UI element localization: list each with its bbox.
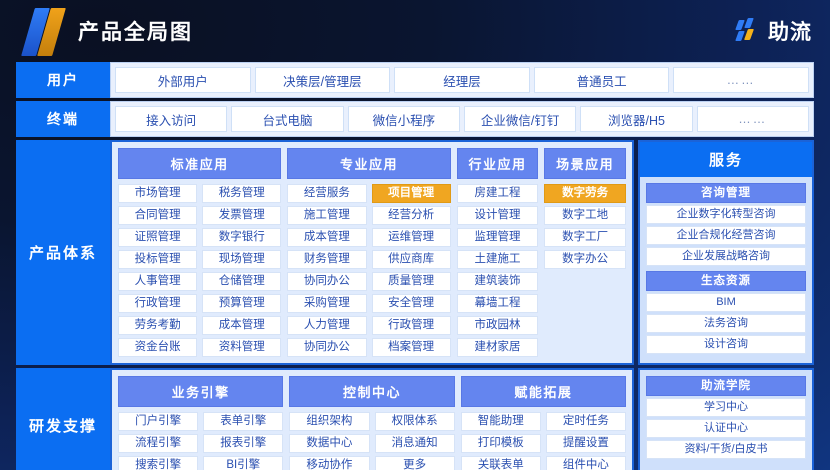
service-item[interactable]: 法务咨询 xyxy=(646,314,806,333)
app-item[interactable]: 房建工程 xyxy=(457,184,539,203)
service-panel: 服务 咨询管理企业数字化转型咨询企业合规化经营咨询企业发展战略咨询生态资源BIM… xyxy=(638,140,814,365)
app-item[interactable]: 建材家居 xyxy=(457,338,539,357)
app-item-highlighted[interactable]: 项目管理 xyxy=(372,184,451,203)
row-1: 终端接入访问台式电脑微信小程序企业微信/钉钉浏览器/H5…… xyxy=(16,101,814,137)
app-column: 数字劳务数字工地数字工厂数字办公 xyxy=(544,184,626,357)
app-item[interactable]: 市场管理 xyxy=(118,184,197,203)
app-item[interactable]: 经营服务 xyxy=(287,184,366,203)
app-item[interactable]: 运维管理 xyxy=(372,228,451,247)
app-item[interactable]: 采购管理 xyxy=(287,294,366,313)
service-item[interactable]: 设计咨询 xyxy=(646,335,806,354)
app-item[interactable]: 人力管理 xyxy=(287,316,366,335)
service-group: 生态资源BIM法务咨询设计咨询 xyxy=(646,271,806,354)
app-item[interactable]: 数字银行 xyxy=(202,228,281,247)
service-group: 助流学院学习中心认证中心资料/干货/白皮书 xyxy=(646,376,806,459)
app-item[interactable]: 资料管理 xyxy=(202,338,281,357)
app-item[interactable]: 数字办公 xyxy=(544,250,626,269)
service-panel-continued: 助流学院学习中心认证中心资料/干货/白皮书 xyxy=(638,368,814,470)
app-group-title: 标准应用 xyxy=(118,148,281,179)
app-item[interactable]: 质量管理 xyxy=(372,272,451,291)
service-item[interactable]: BIM xyxy=(646,293,806,312)
row-cell[interactable]: 台式电脑 xyxy=(231,106,343,132)
app-item[interactable]: 现场管理 xyxy=(202,250,281,269)
row-cell[interactable]: …… xyxy=(697,106,809,132)
app-item[interactable]: 安全管理 xyxy=(372,294,451,313)
app-item[interactable]: 建筑装饰 xyxy=(457,272,539,291)
service-group-title: 咨询管理 xyxy=(646,183,806,203)
service-item[interactable]: 企业数字化转型咨询 xyxy=(646,205,806,224)
app-item[interactable]: 劳务考勤 xyxy=(118,316,197,335)
app-item[interactable]: 土建施工 xyxy=(457,250,539,269)
rnd-item[interactable]: 移动协作 xyxy=(289,456,369,470)
app-column: 房建工程设计管理监理管理土建施工建筑装饰幕墙工程市政园林建材家居 xyxy=(457,184,539,357)
product-system-section: 产品体系 标准应用市场管理合同管理证照管理投标管理人事管理行政管理劳务考勤资金台… xyxy=(16,140,814,365)
service-group-title: 生态资源 xyxy=(646,271,806,291)
row-body-1: 接入访问台式电脑微信小程序企业微信/钉钉浏览器/H5…… xyxy=(110,101,814,137)
rnd-item[interactable]: 报表引擎 xyxy=(203,434,283,453)
rnd-group-title: 赋能拓展 xyxy=(461,376,626,407)
row-cell[interactable]: 外部用户 xyxy=(115,67,251,93)
rnd-item[interactable]: 搜索引擎 xyxy=(118,456,198,470)
service-item[interactable]: 学习中心 xyxy=(646,398,806,417)
service-item[interactable]: 企业发展战略咨询 xyxy=(646,247,806,266)
rnd-column: 智能助理打印模板关联表单 xyxy=(461,412,541,470)
app-item[interactable]: 人事管理 xyxy=(118,272,197,291)
app-item[interactable]: 行政管理 xyxy=(118,294,197,313)
row-0: 用户外部用户决策层/管理层经理层普通员工…… xyxy=(16,62,814,98)
rnd-item[interactable]: 关联表单 xyxy=(461,456,541,470)
application-groups: 标准应用市场管理合同管理证照管理投标管理人事管理行政管理劳务考勤资金台账税务管理… xyxy=(110,140,634,365)
app-item[interactable]: 税务管理 xyxy=(202,184,281,203)
app-item[interactable]: 协同办公 xyxy=(287,338,366,357)
app-item[interactable]: 市政园林 xyxy=(457,316,539,335)
rnd-group-0: 业务引擎门户引擎流程引擎搜索引擎表单引擎报表引擎BI引擎 xyxy=(118,376,283,470)
rnd-column: 组织架构数据中心移动协作 xyxy=(289,412,369,470)
app-item[interactable]: 经营分析 xyxy=(372,206,451,225)
row-cell[interactable]: 经理层 xyxy=(394,67,530,93)
page-header: 产品全局图 助流 xyxy=(0,0,830,62)
app-group-title: 专业应用 xyxy=(287,148,450,179)
app-item[interactable]: 监理管理 xyxy=(457,228,539,247)
app-item[interactable]: 行政管理 xyxy=(372,316,451,335)
app-item[interactable]: 施工管理 xyxy=(287,206,366,225)
rnd-item[interactable]: 更多 xyxy=(375,456,455,470)
app-item[interactable]: 供应商库 xyxy=(372,250,451,269)
rnd-column: 定时任务提醒设置组件中心 xyxy=(546,412,626,470)
app-item[interactable]: 发票管理 xyxy=(202,206,281,225)
top-rows: 用户外部用户决策层/管理层经理层普通员工……终端接入访问台式电脑微信小程序企业微… xyxy=(0,62,830,137)
brand-name: 助流 xyxy=(768,16,812,46)
app-group-0: 标准应用市场管理合同管理证照管理投标管理人事管理行政管理劳务考勤资金台账税务管理… xyxy=(118,148,281,357)
rnd-item[interactable]: 提醒设置 xyxy=(546,434,626,453)
rnd-item[interactable]: BI引擎 xyxy=(203,456,283,470)
row-cell[interactable]: 普通员工 xyxy=(534,67,670,93)
app-item[interactable]: 档案管理 xyxy=(372,338,451,357)
row-cell[interactable]: 微信小程序 xyxy=(348,106,460,132)
row-body-0: 外部用户决策层/管理层经理层普通员工…… xyxy=(110,62,814,98)
product-system-label: 产品体系 xyxy=(16,140,110,365)
service-group-title: 助流学院 xyxy=(646,376,806,396)
app-item[interactable]: 投标管理 xyxy=(118,250,197,269)
app-group-2: 行业应用房建工程设计管理监理管理土建施工建筑装饰幕墙工程市政园林建材家居 xyxy=(457,148,539,357)
app-item[interactable]: 财务管理 xyxy=(287,250,366,269)
rnd-item[interactable]: 权限体系 xyxy=(375,412,455,431)
product-map-page: 产品全局图 助流 用户外部用户决策层/管理层经理层普通员工……终端接入访问台式电… xyxy=(0,0,830,470)
rnd-item[interactable]: 消息通知 xyxy=(375,434,455,453)
app-group-3: 场景应用数字劳务数字工地数字工厂数字办公 xyxy=(544,148,626,357)
rnd-item[interactable]: 定时任务 xyxy=(546,412,626,431)
row-cell[interactable]: 企业微信/钉钉 xyxy=(464,106,576,132)
rnd-group-title: 业务引擎 xyxy=(118,376,283,407)
lightning-brand-icon xyxy=(736,18,762,44)
page-title: 产品全局图 xyxy=(78,16,193,46)
rnd-group-2: 赋能拓展智能助理打印模板关联表单定时任务提醒设置组件中心 xyxy=(461,376,626,470)
service-group: 咨询管理企业数字化转型咨询企业合规化经营咨询企业发展战略咨询 xyxy=(646,183,806,266)
app-column: 市场管理合同管理证照管理投标管理人事管理行政管理劳务考勤资金台账 xyxy=(118,184,197,357)
app-item[interactable]: 仓储管理 xyxy=(202,272,281,291)
app-item[interactable]: 证照管理 xyxy=(118,228,197,247)
app-item[interactable]: 数字工厂 xyxy=(544,228,626,247)
row-cell[interactable]: 接入访问 xyxy=(115,106,227,132)
service-item[interactable]: 认证中心 xyxy=(646,419,806,438)
app-group-title: 行业应用 xyxy=(457,148,539,179)
row-cell[interactable]: 决策层/管理层 xyxy=(255,67,391,93)
rnd-item[interactable]: 数据中心 xyxy=(289,434,369,453)
service-panel-title: 服务 xyxy=(640,142,812,177)
row-label-终端: 终端 xyxy=(16,101,110,137)
rnd-support-section: 研发支撑 业务引擎门户引擎流程引擎搜索引擎表单引擎报表引擎BI引擎控制中心组织架… xyxy=(16,368,814,470)
row-cell[interactable]: 浏览器/H5 xyxy=(580,106,692,132)
rnd-group-title: 控制中心 xyxy=(289,376,454,407)
app-group-1: 专业应用经营服务施工管理成本管理财务管理协同办公采购管理人力管理协同办公项目管理… xyxy=(287,148,450,357)
app-column: 税务管理发票管理数字银行现场管理仓储管理预算管理成本管理资料管理 xyxy=(202,184,281,357)
app-group-title: 场景应用 xyxy=(544,148,626,179)
app-item[interactable]: 成本管理 xyxy=(287,228,366,247)
rnd-support-groups: 业务引擎门户引擎流程引擎搜索引擎表单引擎报表引擎BI引擎控制中心组织架构数据中心… xyxy=(110,368,634,470)
rnd-item[interactable]: 组件中心 xyxy=(546,456,626,470)
rnd-item[interactable]: 门户引擎 xyxy=(118,412,198,431)
rnd-group-1: 控制中心组织架构数据中心移动协作权限体系消息通知更多 xyxy=(289,376,454,470)
app-item[interactable]: 设计管理 xyxy=(457,206,539,225)
slash-logo-icon xyxy=(26,10,68,52)
rnd-column: 门户引擎流程引擎搜索引擎 xyxy=(118,412,198,470)
rnd-item[interactable]: 表单引擎 xyxy=(203,412,283,431)
app-column: 项目管理经营分析运维管理供应商库质量管理安全管理行政管理档案管理 xyxy=(372,184,451,357)
row-label-用户: 用户 xyxy=(16,62,110,98)
rnd-item[interactable]: 打印模板 xyxy=(461,434,541,453)
row-cell[interactable]: …… xyxy=(673,67,809,93)
service-item[interactable]: 企业合规化经营咨询 xyxy=(646,226,806,245)
app-item[interactable]: 合同管理 xyxy=(118,206,197,225)
app-item[interactable]: 资金台账 xyxy=(118,338,197,357)
rnd-column: 权限体系消息通知更多 xyxy=(375,412,455,470)
app-item[interactable]: 成本管理 xyxy=(202,316,281,335)
app-item[interactable]: 数字工地 xyxy=(544,206,626,225)
rnd-support-label: 研发支撑 xyxy=(16,368,110,470)
app-item[interactable]: 预算管理 xyxy=(202,294,281,313)
service-item[interactable]: 资料/干货/白皮书 xyxy=(646,440,806,459)
rnd-item[interactable]: 智能助理 xyxy=(461,412,541,431)
rnd-column: 表单引擎报表引擎BI引擎 xyxy=(203,412,283,470)
app-column: 经营服务施工管理成本管理财务管理协同办公采购管理人力管理协同办公 xyxy=(287,184,366,357)
brand-block: 助流 xyxy=(736,16,812,46)
rnd-item[interactable]: 组织架构 xyxy=(289,412,369,431)
rnd-item[interactable]: 流程引擎 xyxy=(118,434,198,453)
app-item[interactable]: 协同办公 xyxy=(287,272,366,291)
app-item-highlighted[interactable]: 数字劳务 xyxy=(544,184,626,203)
app-item[interactable]: 幕墙工程 xyxy=(457,294,539,313)
